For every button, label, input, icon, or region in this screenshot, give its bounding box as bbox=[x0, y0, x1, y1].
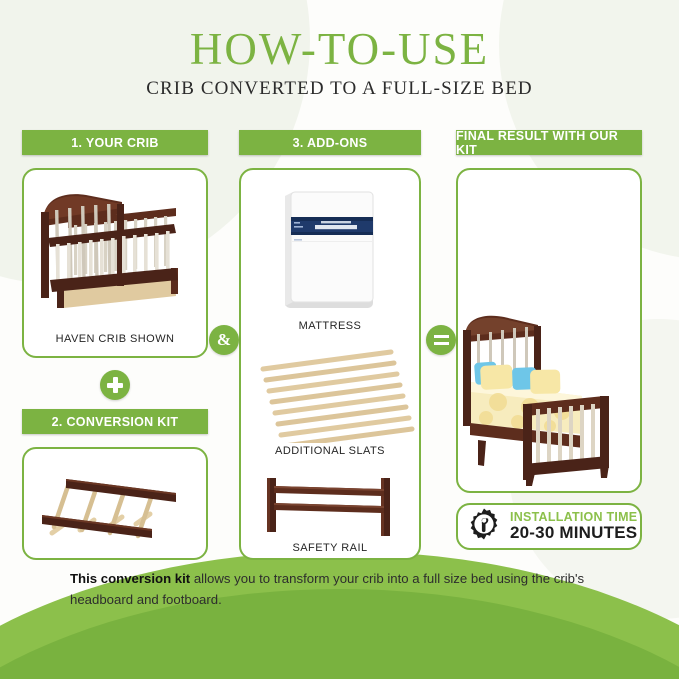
addon-additional-slats: ADDITIONAL SLATS bbox=[241, 345, 419, 465]
conversion-kit-illustration bbox=[24, 461, 206, 551]
panel-conversion-kit bbox=[22, 447, 208, 560]
panel-add-ons: MATTRESS ADDITIONAL bbox=[239, 168, 421, 560]
crib-svg bbox=[24, 180, 206, 320]
panel-your-crib: HAVEN CRIB SHOWN bbox=[22, 168, 208, 358]
page-title-block: HOW-TO-USE CRIB CONVERTED TO A FULL-SIZE… bbox=[0, 26, 679, 100]
installation-time-value: 20-30 MINUTES bbox=[510, 524, 637, 542]
crib-illustration bbox=[24, 180, 206, 320]
installation-time-badge: INSTALLATION TIME 20-30 MINUTES bbox=[456, 503, 642, 550]
connector-equals-badge bbox=[426, 325, 456, 355]
addon-mattress: MATTRESS bbox=[241, 170, 419, 340]
equals-icon bbox=[434, 335, 449, 345]
mattress-illustration bbox=[241, 184, 419, 312]
plus-icon bbox=[107, 377, 123, 393]
safety-rail-svg bbox=[241, 470, 419, 538]
caption-safety-rail: SAFETY RAIL bbox=[241, 542, 419, 554]
page-title: HOW-TO-USE bbox=[0, 26, 679, 73]
infographic-canvas: HOW-TO-USE CRIB CONVERTED TO A FULL-SIZE… bbox=[0, 0, 679, 679]
footer-bold-lead: This conversion kit bbox=[70, 571, 190, 586]
slats-svg bbox=[241, 345, 419, 443]
mattress-svg bbox=[241, 184, 419, 312]
addon-safety-rail: SAFETY RAIL bbox=[241, 470, 419, 562]
slats-illustration bbox=[241, 345, 419, 443]
conversion-kit-svg bbox=[24, 461, 206, 551]
section-header-conversion-kit: 2. CONVERSION KIT bbox=[22, 409, 208, 434]
caption-haven-crib: HAVEN CRIB SHOWN bbox=[24, 333, 206, 345]
panel-final-result bbox=[456, 168, 642, 493]
section-header-final-result: FINAL RESULT WITH OUR KIT bbox=[456, 130, 642, 155]
footer-description: This conversion kit allows you to transf… bbox=[70, 568, 615, 611]
section-header-your-crib: 1. YOUR CRIB bbox=[22, 130, 208, 155]
section-header-add-ons: 3. ADD-ONS bbox=[239, 130, 421, 155]
caption-additional-slats: ADDITIONAL SLATS bbox=[241, 445, 419, 457]
connector-plus-badge bbox=[100, 370, 130, 400]
converted-bed-svg bbox=[458, 308, 640, 488]
page-subtitle: CRIB CONVERTED TO A FULL-SIZE BED bbox=[0, 78, 679, 100]
gear-wrench-icon bbox=[467, 507, 501, 546]
safety-rail-illustration bbox=[241, 470, 419, 538]
converted-bed-illustration bbox=[458, 308, 640, 488]
caption-mattress: MATTRESS bbox=[241, 320, 419, 332]
connector-ampersand-badge: & bbox=[209, 325, 239, 355]
